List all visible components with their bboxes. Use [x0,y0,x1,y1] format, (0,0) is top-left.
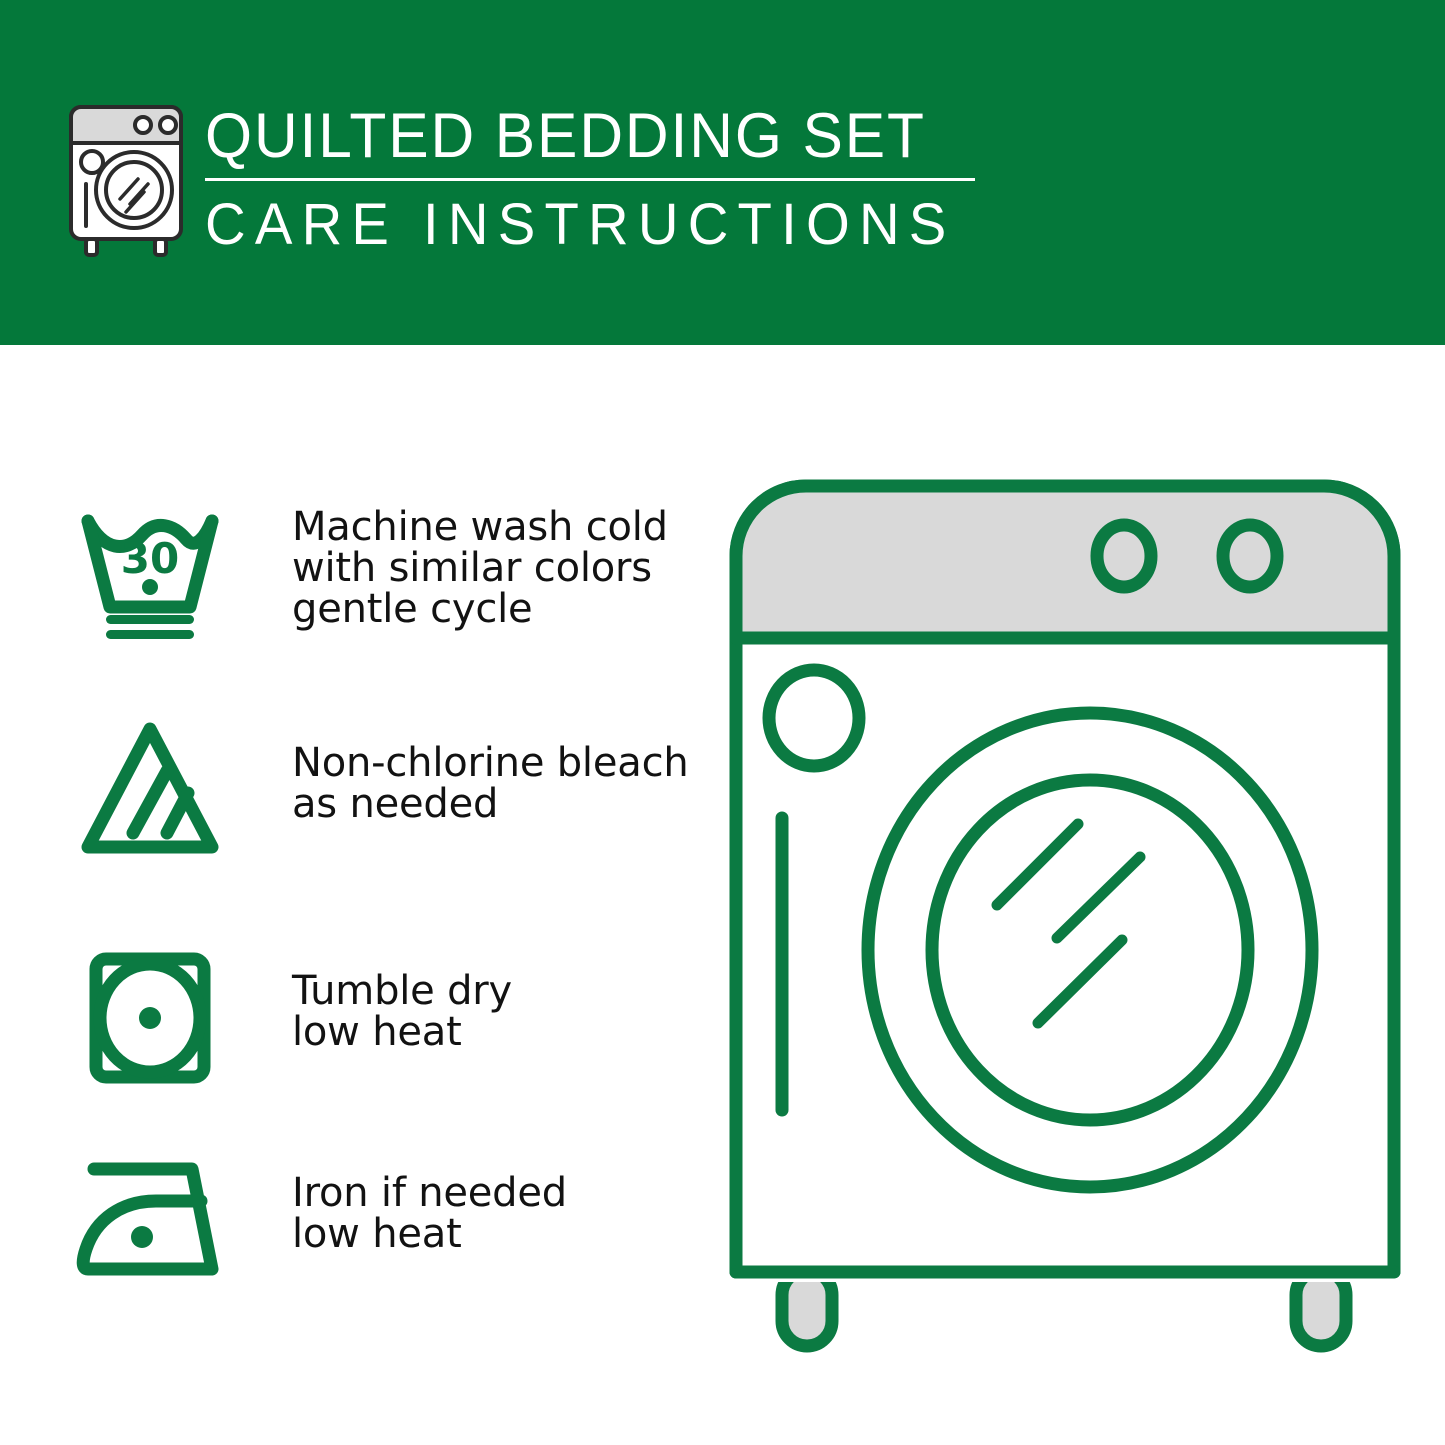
care-instruction-list: 30 Machine wash cold with similar colors… [0,345,700,1445]
care-instructions-page: QUILTED BEDDING SET CARE INSTRUCTIONS 30 [0,0,1445,1445]
control-panel [736,486,1394,638]
care-row-machine-wash: 30 Machine wash cold with similar colors… [70,495,690,645]
detergent-indicator-icon [769,670,859,766]
care-line: as needed [292,784,690,825]
control-knob-left [1097,525,1151,587]
care-line: gentle cycle [292,589,690,630]
care-text-iron: Iron if needed low heat [230,1145,690,1255]
tumble-dry-low-heat-icon [70,943,230,1093]
header-text-block: QUILTED BEDDING SET CARE INSTRUCTIONS [205,100,995,260]
title-divider [205,178,975,181]
wash-tub-30-gentle-icon: 30 [70,495,230,645]
care-row-bleach: Non-chlorine bleach as needed [70,715,690,865]
care-line: Iron if needed [292,1173,690,1214]
care-row-tumble-dry: Tumble dry low heat [70,943,690,1093]
care-line: with similar colors [292,548,690,589]
care-text-machine-wash: Machine wash cold with similar colors ge… [230,495,690,630]
page-subtitle: CARE INSTRUCTIONS [205,193,971,257]
care-text-bleach: Non-chlorine bleach as needed [230,715,690,825]
wash-temperature-label: 30 [121,534,179,583]
page-title: QUILTED BEDDING SET [205,100,963,172]
washing-machine-logo-icon [64,100,188,260]
care-line: low heat [292,1214,690,1255]
care-line: Machine wash cold [292,507,690,548]
care-line: Non-chlorine bleach [292,743,690,784]
care-line: Tumble dry [292,971,690,1012]
care-row-iron: Iron if needed low heat [70,1145,690,1295]
iron-low-heat-icon [70,1145,230,1295]
header-banner: QUILTED BEDDING SET CARE INSTRUCTIONS [0,0,1445,345]
control-knob-right [1223,525,1277,587]
washing-machine-illustration [720,470,1410,1370]
non-chlorine-bleach-triangle-icon [70,715,230,865]
care-text-tumble-dry: Tumble dry low heat [230,943,690,1053]
care-line: low heat [292,1012,690,1053]
machine-drum [932,780,1248,1120]
